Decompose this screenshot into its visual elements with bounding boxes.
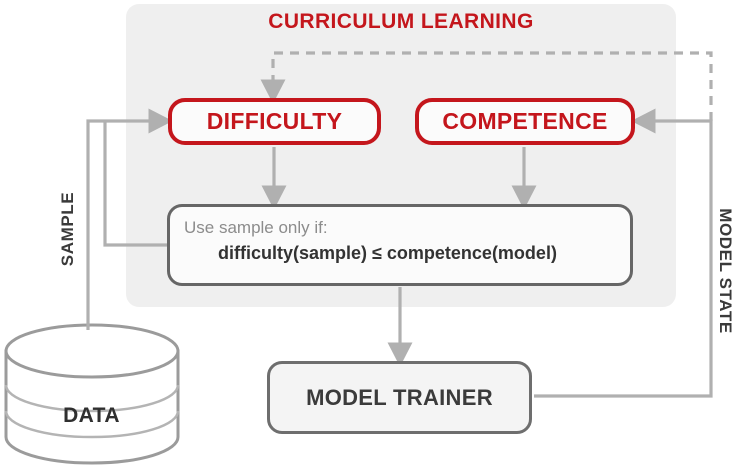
condition-line-2: difficulty(sample) ≤ competence(model)	[184, 240, 630, 266]
data-cylinder-shape	[6, 325, 178, 463]
node-data-label: DATA	[5, 404, 178, 428]
edge-sample-to-difficulty	[88, 121, 160, 330]
edge-label-sample: SAMPLE	[58, 159, 78, 299]
edge-label-model-state: MODEL STATE	[715, 201, 735, 341]
diagram-canvas: CURRICULUM LEARNING	[0, 0, 735, 471]
node-condition[interactable]: Use sample only if: difficulty(sample) ≤…	[167, 204, 633, 286]
node-difficulty-label: DIFFICULTY	[207, 108, 342, 135]
node-difficulty[interactable]: DIFFICULTY	[168, 98, 381, 145]
node-model-trainer[interactable]: MODEL TRAINER	[267, 361, 532, 434]
node-competence-label: COMPETENCE	[442, 108, 607, 135]
node-model-trainer-label: MODEL TRAINER	[306, 385, 493, 411]
condition-line-1: Use sample only if:	[184, 216, 630, 240]
node-competence[interactable]: COMPETENCE	[415, 98, 635, 145]
edge-sample-to-condition	[105, 121, 170, 245]
